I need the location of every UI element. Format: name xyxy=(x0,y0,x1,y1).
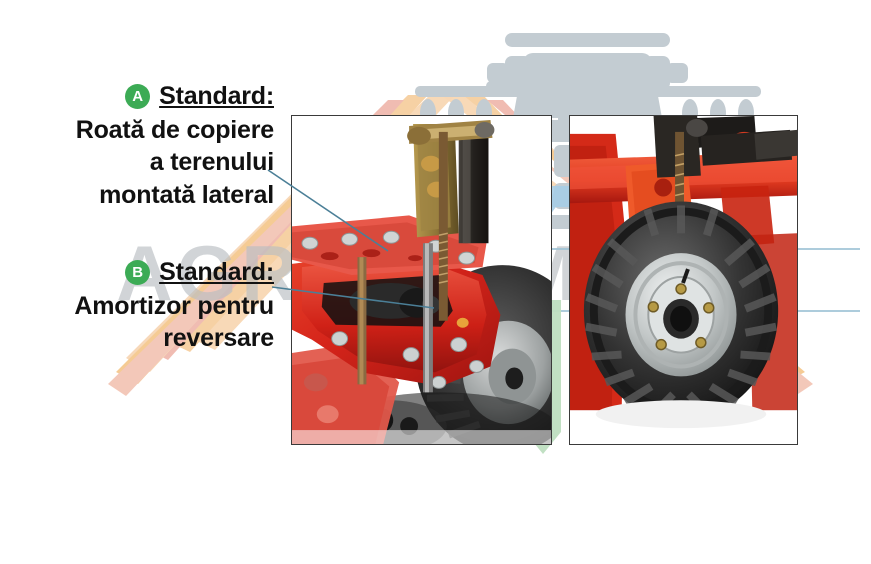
photo-left xyxy=(291,115,552,445)
badge-a: A xyxy=(125,84,150,109)
photo-right xyxy=(569,115,798,445)
callout-a: A Standard: Roată de copiere a terenului… xyxy=(4,80,274,211)
side-mounted-depth-wheel-closeup xyxy=(292,116,551,444)
callout-a-head: A Standard: xyxy=(4,80,274,113)
callout-a-heading: Standard: xyxy=(159,80,274,113)
depth-wheel-front-view xyxy=(570,116,797,444)
callout-b-head: B Standard: xyxy=(4,256,274,289)
callout-b: B Standard: Amortizor pentru reversare xyxy=(4,256,274,355)
callout-b-body: Amortizor pentru reversare xyxy=(4,290,274,355)
poster-canvas: AGRODIAMANT GROUP xyxy=(0,0,871,564)
callout-a-body: Roată de copiere a terenului montată lat… xyxy=(4,114,274,212)
callout-b-heading: Standard: xyxy=(159,256,274,289)
badge-b: B xyxy=(125,260,150,285)
